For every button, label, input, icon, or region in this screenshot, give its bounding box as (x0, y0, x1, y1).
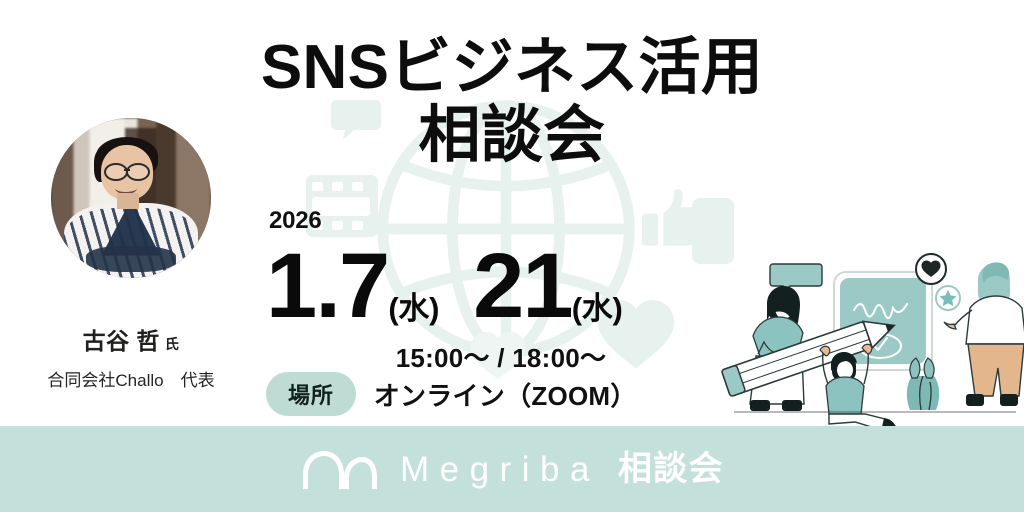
speaker-name-suffix: 氏 (165, 336, 179, 352)
event-date-2: 21 (473, 243, 572, 330)
portrait-neck (117, 193, 139, 209)
poster-canvas: 古谷 哲氏 合同会社Challo 代表 SNSビジネス活用 相談会 2026 1… (0, 0, 1024, 512)
speaker-name-text: 古谷 哲 (83, 328, 160, 354)
footer-content: Megriba 相談会 (0, 426, 1024, 512)
speaker-name: 古谷 哲氏 (0, 322, 262, 356)
place-value: オンライン（ZOOM） (374, 376, 637, 413)
avatar (51, 118, 211, 278)
event-date-2-weekday: (水) (572, 293, 623, 330)
page-title: SNSビジネス活用 相談会 (200, 34, 824, 170)
place-label-badge: 場所 (266, 372, 356, 416)
speaker-portrait-photo (51, 118, 211, 278)
portrait-smile (115, 182, 137, 194)
speaker-organization: 合同会社Challo 代表 (0, 366, 262, 391)
event-place-row: 場所 オンライン（ZOOM） (266, 372, 736, 416)
event-time: 15:00〜 / 18:00〜 (266, 338, 736, 375)
event-year: 2026 (269, 207, 321, 235)
brand-name: Megriba (400, 452, 600, 487)
glasses-icon (104, 163, 150, 177)
title-line-1: SNSビジネス活用 (261, 33, 763, 102)
megriba-arch-logo-icon (300, 447, 378, 491)
title-line-2: 相談会 (200, 102, 824, 170)
portrait-arms (86, 246, 176, 272)
event-date-1-weekday: (水) (388, 293, 439, 330)
event-dates: 1.7 (水) 21 (水) (266, 232, 736, 330)
event-date-1: 1.7 (266, 243, 388, 330)
people-with-giant-pencil-illustration (716, 238, 1024, 434)
footer-subtitle: 相談会 (618, 452, 724, 486)
